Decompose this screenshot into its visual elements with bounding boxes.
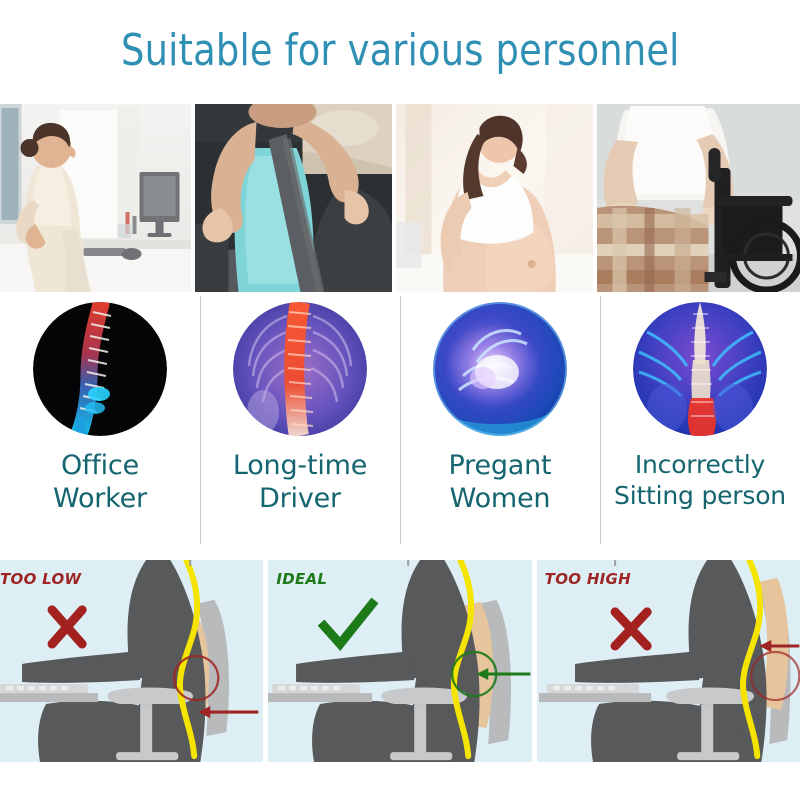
pregnant-woman-photo <box>396 104 593 292</box>
persona-cell-incorrectly-sitting: Incorrectly Sitting person <box>600 292 800 550</box>
pelvis-glow-sphere-icon <box>433 302 567 436</box>
office-worker-photo <box>0 104 191 292</box>
wheelchair-person-photo <box>597 104 800 292</box>
ergonomic-panel-too-low: TOO LOW <box>0 560 263 762</box>
persona-label: Office Worker <box>53 450 147 516</box>
ergonomic-tag: TOO HIGH <box>545 570 631 588</box>
spine-red-blue-icon <box>33 302 167 436</box>
lumbar-spine-xray-icon <box>633 302 767 436</box>
ergonomic-tag: IDEAL <box>276 570 327 588</box>
ergonomic-panel-too-high: TOO HIGH <box>537 560 800 762</box>
persona-photo-row <box>0 104 800 292</box>
persona-cell-pregnant-women: Pregant Women <box>400 292 600 550</box>
ergonomic-comparison-row: TOO LOW <box>0 560 800 762</box>
persona-label: Pregant Women <box>449 450 552 516</box>
spine-xray-purple-icon <box>233 302 367 436</box>
ergonomic-tag: TOO LOW <box>0 570 81 588</box>
ergonomic-panel-ideal: IDEAL <box>268 560 531 762</box>
driver-photo <box>195 104 392 292</box>
persona-label: Incorrectly Sitting person <box>614 450 786 511</box>
header-banner: Suitable for various personnel <box>0 0 800 102</box>
persona-label: Long-time Driver <box>233 450 367 516</box>
persona-cell-office-worker: Office Worker <box>0 292 200 550</box>
persona-label-row: Office Worker <box>0 292 800 550</box>
infographic-page: Suitable for various personnel <box>0 0 800 800</box>
page-title: Suitable for various personnel <box>121 29 680 73</box>
persona-cell-long-time-driver: Long-time Driver <box>200 292 400 550</box>
